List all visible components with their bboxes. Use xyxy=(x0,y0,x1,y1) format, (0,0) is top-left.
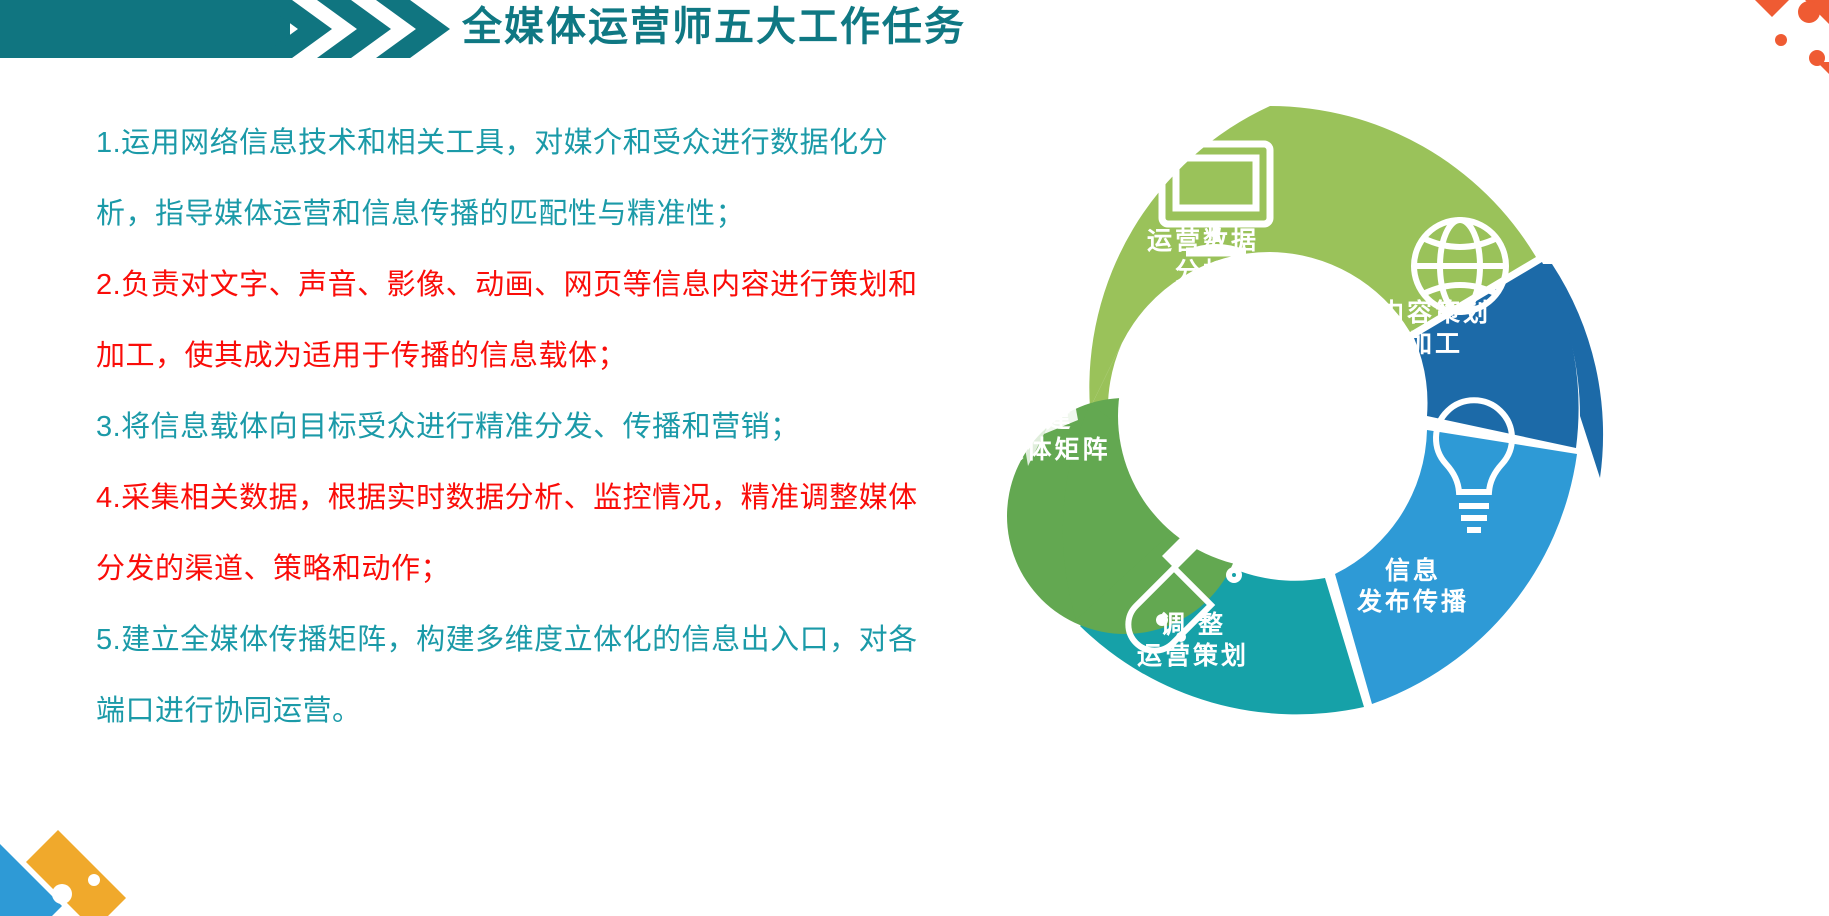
decoration-top-right xyxy=(1659,0,1829,112)
page-title: 全媒体运营师五大工作任务 xyxy=(462,0,966,56)
donut-center-hole xyxy=(1118,264,1422,568)
task-item-4: 4.采集相关数据，根据实时数据分析、监控情况，精准调整媒体分发的渠道、策略和动作… xyxy=(96,463,926,605)
task-item-1: 1.运用网络信息技术和相关工具，对媒介和受众进行数据化分析，指导媒体运营和信息传… xyxy=(96,108,926,250)
task-item-5: 5.建立全媒体传播矩阵，构建多维度立体化的信息出入口，对各端口进行协同运营。 xyxy=(96,605,926,747)
task-item-2: 2.负责对文字、声音、影像、动画、网页等信息内容进行策划和加工，使其成为适用于传… xyxy=(96,250,926,392)
cycle-diagram-svg xyxy=(940,86,1600,746)
task-list: 1.运用网络信息技术和相关工具，对媒介和受众进行数据化分析，指导媒体运营和信息传… xyxy=(96,108,926,747)
title-band-block xyxy=(0,0,290,58)
decoration-bottom-left xyxy=(0,796,190,916)
cycle-diagram: 运营数据 分析 内容策划 加工 信息 发布传播 调 整 运营策划 构 建 全媒体… xyxy=(940,86,1600,746)
task-item-3: 3.将信息载体向目标受众进行精准分发、传播和营销； xyxy=(96,392,926,463)
